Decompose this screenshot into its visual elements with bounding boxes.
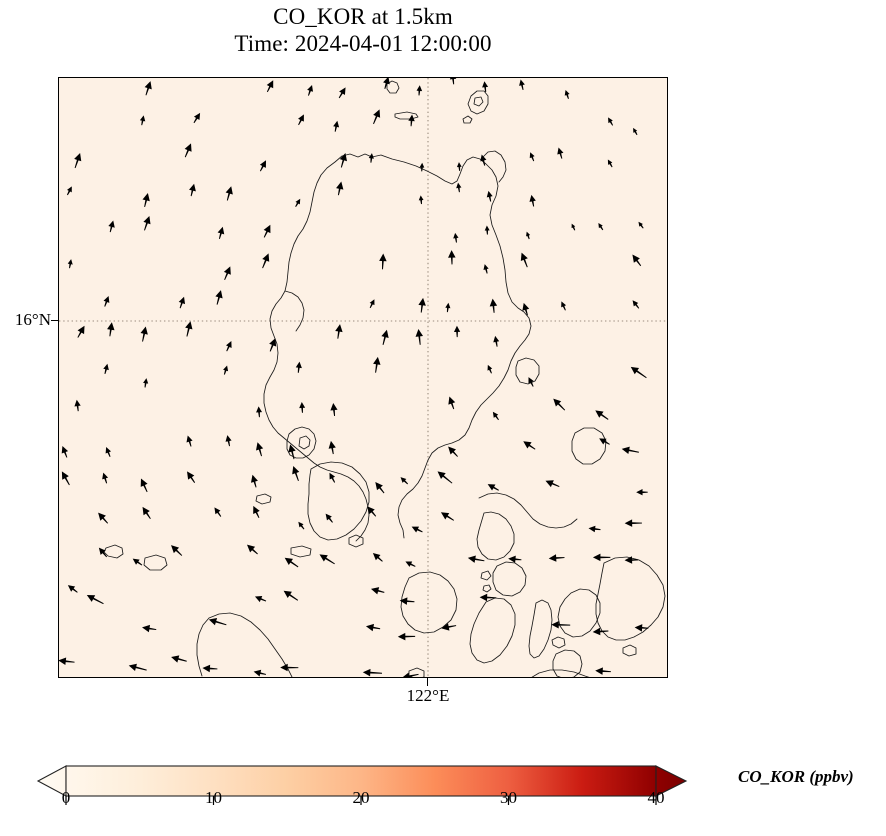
wind-vector-arrow — [74, 153, 81, 168]
wind-vector-arrow — [226, 341, 232, 351]
wind-vector-arrow — [106, 447, 111, 457]
wind-vector-arrow — [401, 477, 409, 484]
colorbar-tick-label-30: 30 — [487, 788, 531, 808]
wind-vector-arrow — [336, 182, 343, 196]
wind-vector-arrow — [530, 152, 535, 161]
wind-vector-arrow — [298, 522, 304, 530]
colorbar-tick-label-10: 10 — [192, 788, 236, 808]
wind-vector-arrow — [296, 362, 302, 373]
wind-vector-arrow — [454, 326, 460, 337]
wind-vector-arrow — [599, 438, 610, 444]
wind-vector-arrow — [171, 545, 182, 556]
wind-vector-arrow — [398, 633, 415, 641]
wind-vector-arrow — [383, 78, 390, 89]
wind-vector-arrow — [488, 484, 499, 491]
coastline-leyte — [558, 589, 600, 637]
wind-vector-arrow — [141, 479, 148, 493]
wind-vector-arrow — [545, 480, 559, 487]
wind-vector-arrow — [335, 324, 342, 339]
coastline-island-north-3 — [468, 91, 488, 114]
wind-vector-arrow — [143, 378, 148, 387]
wind-vector-arrow — [412, 527, 423, 533]
wind-vector-arrow — [523, 441, 535, 449]
wind-vector-arrow — [226, 186, 233, 200]
wind-vector-arrow — [608, 159, 613, 167]
coastline-luzon — [264, 154, 531, 541]
wind-vector-arrow — [269, 338, 276, 352]
wind-vector-arrow — [445, 303, 450, 312]
colorbar-tick-label-40: 40 — [634, 788, 678, 808]
wind-vector-arrow — [87, 595, 104, 604]
wind-vector-arrow — [381, 330, 388, 345]
wind-vector-arrow — [226, 435, 232, 446]
wind-vector-arrow — [622, 447, 639, 454]
wind-vector-arrow — [369, 153, 374, 163]
wind-vector-arrow — [593, 554, 610, 562]
wind-vector-arrow — [133, 559, 143, 566]
wind-vector-arrow — [247, 545, 258, 555]
wind-vector-arrow — [77, 326, 84, 338]
wind-vector-arrow — [339, 87, 346, 98]
coastline-small-island-2 — [144, 555, 167, 570]
wind-vector-arrow — [561, 301, 566, 310]
wind-vector-arrow — [595, 410, 608, 419]
y-axis-tick-mark — [51, 320, 59, 321]
wind-vector-arrow — [299, 402, 305, 413]
coastline-island-north-2 — [395, 112, 418, 119]
wind-vector-arrow — [68, 259, 73, 268]
title-line-primary: CO_KOR at 1.5km — [58, 4, 668, 31]
wind-vector-arrow — [179, 297, 185, 309]
wind-vector-arrow — [143, 216, 150, 231]
wind-vector-arrow — [402, 673, 419, 678]
wind-vector-arrow — [636, 489, 648, 495]
wind-vector-arrow — [589, 526, 601, 533]
wind-vector-arrow — [264, 225, 271, 238]
coastline-cebu — [529, 600, 552, 658]
coastline-catanduanes — [572, 428, 606, 464]
wind-vector-arrow — [140, 115, 145, 125]
wind-vector-arrow — [262, 253, 269, 268]
wind-vector-arrow — [371, 587, 384, 594]
wind-vector-arrow — [104, 296, 110, 307]
wind-vector-arrow — [595, 667, 611, 674]
wind-vector-arrow — [448, 250, 456, 264]
wind-vector-arrow — [549, 554, 565, 561]
wind-vector-arrow — [448, 447, 458, 457]
wind-vector-arrow — [62, 446, 68, 458]
wind-vector-arrow — [482, 81, 488, 92]
wind-vector-arrow — [171, 655, 187, 662]
wind-vector-arrow — [215, 290, 222, 305]
wind-vector-arrow — [141, 326, 148, 341]
wind-vector-arrow — [370, 299, 375, 308]
map-plot-area — [58, 77, 668, 678]
wind-vector-arrow — [418, 298, 425, 313]
wind-vector-arrow — [480, 594, 497, 602]
wind-vector-arrow — [633, 128, 637, 135]
wind-vector-arrow — [292, 466, 299, 481]
coastline-small-island-1 — [104, 545, 123, 558]
wind-vector-arrow — [379, 254, 386, 270]
wind-vector-arrow — [142, 625, 156, 632]
wind-vector-arrow — [107, 322, 114, 336]
wind-vector-arrow — [59, 658, 75, 665]
wind-vector-arrow — [255, 596, 266, 602]
wind-vector-arrow — [638, 222, 643, 229]
wind-vector-arrow — [441, 512, 454, 520]
wind-vector-arrow — [202, 665, 217, 672]
wind-vector-arrow — [68, 585, 78, 593]
wind-vector-arrow — [129, 664, 147, 671]
wind-vector-arrow — [145, 81, 152, 95]
wind-vector-arrow — [493, 412, 499, 420]
wind-vector-arrow — [375, 482, 384, 493]
wind-vector-arrow — [456, 183, 461, 193]
wind-vector-arrow — [519, 79, 525, 90]
coastline-polillo — [516, 358, 539, 384]
wind-vector-arrow — [330, 403, 337, 416]
wind-vector-arrow — [366, 624, 380, 631]
wind-vector-arrow — [280, 664, 298, 672]
wind-vector-arrow — [373, 553, 383, 562]
wind-vector-field — [59, 78, 648, 678]
wind-vector-arrow — [488, 365, 493, 374]
wind-vector-arrow — [143, 193, 150, 207]
coastline-small-island-3 — [481, 571, 491, 580]
wind-vector-arrow — [209, 618, 227, 625]
coastline-samar — [596, 557, 665, 640]
wind-vector-arrow — [326, 514, 333, 523]
wind-vector-arrow — [214, 507, 221, 516]
wind-vector-arrow — [284, 591, 298, 601]
wind-vector-arrow — [189, 184, 196, 197]
coastline-island-north-4 — [463, 116, 472, 123]
coastline-manila-bay-detail — [287, 427, 316, 458]
coastline-bay-inner — [299, 436, 310, 449]
coastline-panay — [401, 572, 457, 633]
wind-vector-arrow — [307, 85, 313, 96]
wind-vector-arrow — [329, 441, 336, 454]
coastline-small-island-6 — [552, 637, 565, 648]
wind-vector-arrow — [67, 186, 72, 195]
colorbar-axis-label: CO_KOR (ppbv) — [738, 767, 854, 787]
wind-vector-arrow — [405, 561, 415, 566]
wind-vector-arrow — [363, 669, 382, 676]
coastline-small-island-10 — [291, 546, 311, 557]
wind-vector-arrow — [224, 266, 231, 280]
gridlines — [59, 78, 668, 678]
wind-vector-arrow — [408, 115, 414, 127]
wind-vector-arrow — [256, 442, 263, 456]
wind-vector-arrow — [487, 191, 493, 202]
wind-vector-arrow — [74, 400, 80, 411]
coastline-small-island-4 — [483, 585, 491, 592]
wind-vector-arrow — [453, 233, 458, 243]
wind-vector-arrow — [373, 109, 380, 124]
colorbar-tick-label-0: 0 — [44, 788, 88, 808]
wind-vector-arrow — [295, 199, 300, 207]
wind-vector-arrow — [557, 147, 563, 158]
wind-vector-arrow — [254, 670, 266, 677]
colorbar: 0 10 20 30 40 CO_KOR (ppbv) — [0, 752, 886, 836]
colorbar-tick-label-20: 20 — [339, 788, 383, 808]
wind-vector-arrow — [108, 220, 114, 232]
wind-vector-arrow — [185, 321, 192, 336]
wind-vector-arrow — [98, 513, 108, 524]
title-line-timestamp: Time: 2024-04-01 12:00:00 — [58, 31, 668, 58]
wind-vector-arrow — [438, 471, 453, 483]
wind-vector-arrow — [102, 473, 108, 484]
wind-vector-arrow — [373, 357, 380, 373]
coastline-bohol — [553, 650, 582, 678]
wind-vector-arrow — [485, 226, 490, 235]
wind-vector-arrow — [253, 506, 260, 518]
wind-vector-arrow — [632, 255, 641, 267]
wind-vector-arrow — [521, 253, 528, 268]
wind-vector-arrow — [450, 78, 456, 84]
coastline-small-island-11 — [256, 494, 271, 504]
coastline-negros — [470, 598, 515, 663]
wind-vector-arrow — [187, 471, 195, 483]
wind-vector-arrow — [103, 364, 109, 374]
wind-vector-arrow — [416, 329, 423, 345]
wind-vector-arrow — [457, 162, 462, 171]
wind-vector-arrow — [483, 264, 488, 274]
wind-vector-arrow — [448, 397, 455, 410]
wind-vector-arrow — [417, 85, 423, 95]
y-axis-tick-label-16n: 16°N — [7, 310, 51, 330]
wind-vector-arrow — [598, 223, 603, 230]
wind-vector-arrow — [529, 195, 535, 207]
coastline-bataan-manila-bay — [285, 291, 304, 331]
coastlines — [104, 81, 668, 678]
wind-vector-arrow — [218, 227, 225, 239]
wind-vector-arrow — [143, 507, 151, 519]
wind-vector-arrow — [490, 299, 497, 313]
wind-vector-arrow — [267, 80, 273, 92]
wind-vector-arrow — [441, 623, 456, 630]
wind-vector-arrow — [419, 195, 424, 204]
wind-vector-arrow — [565, 90, 570, 99]
wind-vector-arrow — [553, 399, 565, 411]
wind-vector-arrow — [633, 300, 640, 308]
wind-vector-arrow — [631, 367, 647, 378]
wind-vector-arrow — [298, 114, 304, 125]
wind-vector-arrow — [194, 113, 201, 123]
wind-vector-arrow — [468, 556, 485, 563]
figure-canvas: CO_KOR at 1.5km Time: 2024-04-01 12:00:0… — [0, 0, 886, 836]
wind-vector-arrow — [329, 473, 335, 483]
map-graphics — [59, 78, 668, 678]
coastline-mindanao-north — [529, 670, 594, 678]
wind-vector-arrow — [420, 163, 425, 172]
wind-vector-arrow — [260, 160, 266, 171]
wind-vector-arrow — [185, 143, 192, 157]
wind-vector-arrow — [625, 519, 642, 527]
wind-vector-arrow — [285, 558, 299, 568]
chart-title: CO_KOR at 1.5km Time: 2024-04-01 12:00:0… — [58, 4, 668, 57]
wind-vector-arrow — [251, 475, 258, 488]
wind-vector-arrow — [223, 365, 228, 374]
x-axis-tick-mark — [427, 678, 428, 686]
coastline-bicol-south — [477, 512, 514, 560]
wind-vector-arrow — [187, 435, 193, 446]
coastline-luzon-ne-cape — [483, 151, 506, 182]
coastline-bicol — [479, 493, 577, 528]
wind-vector-arrow — [508, 556, 521, 563]
coastline-small-island-8 — [623, 645, 636, 656]
wind-vector-arrow — [62, 471, 70, 485]
wind-vector-arrow — [572, 224, 576, 231]
wind-vector-arrow — [319, 554, 334, 564]
wind-vector-arrow — [635, 624, 649, 631]
x-axis-tick-label-122e: 122°E — [398, 686, 458, 706]
wind-vector-arrow — [493, 336, 499, 347]
wind-vector-arrow — [333, 121, 339, 132]
wind-vector-arrow — [608, 117, 613, 125]
wind-vector-arrow — [256, 406, 262, 417]
wind-vector-arrow — [526, 232, 530, 240]
coastline-masbate — [493, 562, 526, 596]
colorbar-graphics — [0, 752, 886, 836]
